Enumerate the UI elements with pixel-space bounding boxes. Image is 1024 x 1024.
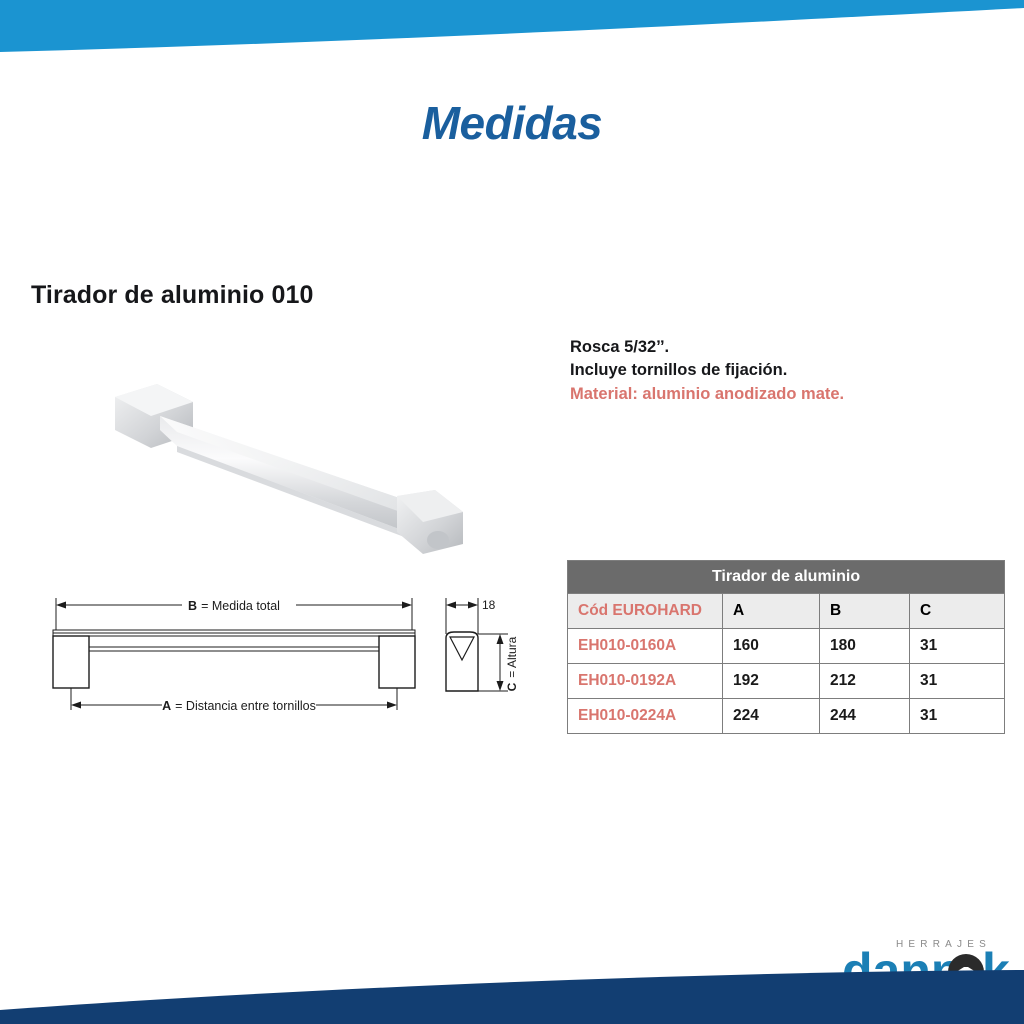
col-header-b-label: B bbox=[820, 602, 909, 620]
cell-c: 31 bbox=[910, 629, 1005, 664]
table-title-row: Tirador de aluminio bbox=[568, 561, 1005, 594]
table-header-row: Cód EUROHARD A B C bbox=[568, 594, 1005, 629]
col-header-a-label: A bbox=[723, 602, 819, 620]
brand-name-part2: k bbox=[982, 943, 1010, 996]
specification-text: Rosca 5/32ˮ. Incluye tornillos de fijaci… bbox=[570, 336, 844, 406]
dim-c-label-rest: = Altura bbox=[505, 636, 519, 677]
spec-thread-line: Rosca 5/32ˮ. bbox=[570, 336, 844, 359]
col-header-code-label: Cód EUROHARD bbox=[568, 602, 722, 620]
svg-text:A= Distancia entre tornillos: A= Distancia entre tornillos bbox=[162, 699, 316, 713]
col-header-b: B bbox=[820, 594, 910, 629]
dim-c-label-bold: C bbox=[505, 682, 519, 691]
table-row: EH010-0160A 160 180 31 bbox=[568, 629, 1005, 664]
top-swoosh-decoration bbox=[0, 0, 1024, 70]
dim-b-label-bold: B bbox=[188, 599, 197, 613]
col-header-code: Cód EUROHARD bbox=[568, 594, 723, 629]
product-photo bbox=[105, 372, 470, 557]
col-header-a: A bbox=[723, 594, 820, 629]
svg-text:C= Altura: C= Altura bbox=[505, 636, 519, 691]
cell-b: 180 bbox=[820, 629, 910, 664]
cell-a: 160 bbox=[723, 629, 820, 664]
brand-name-part1: dann bbox=[842, 943, 961, 996]
dim-width-label: 18 bbox=[482, 598, 496, 612]
product-title: Tirador de aluminio 010 bbox=[31, 281, 313, 310]
col-header-c: C bbox=[910, 594, 1005, 629]
spec-screws-line: Incluye tornillos de fijación. bbox=[570, 359, 844, 382]
table-row: EH010-0192A 192 212 31 bbox=[568, 664, 1005, 699]
measurements-table: Tirador de aluminio Cód EUROHARD A B C E… bbox=[567, 560, 1005, 734]
dim-a-label-bold: A bbox=[162, 699, 171, 713]
table-row: EH010-0224A 224 244 31 bbox=[568, 699, 1005, 734]
cell-b: 244 bbox=[820, 699, 910, 734]
col-header-c-label: C bbox=[910, 602, 1004, 620]
cell-c: 31 bbox=[910, 699, 1005, 734]
dim-a-label-rest: = Distancia entre tornillos bbox=[175, 699, 316, 713]
cell-b: 212 bbox=[820, 664, 910, 699]
cell-a: 192 bbox=[723, 664, 820, 699]
cell-a: 224 bbox=[723, 699, 820, 734]
spec-material-line: Material: aluminio anodizado mate. bbox=[570, 383, 844, 406]
table-title: Tirador de aluminio bbox=[568, 561, 1005, 594]
technical-drawing-side-view: 18 C= Altura bbox=[432, 592, 542, 717]
page-title: Medidas bbox=[0, 96, 1024, 150]
dim-b-label-rest: = Medida total bbox=[201, 599, 280, 613]
cell-code: EH010-0160A bbox=[568, 629, 723, 664]
cell-c: 31 bbox=[910, 664, 1005, 699]
brand-logo: HERRAJES dann k bbox=[838, 930, 1013, 996]
cell-code: EH010-0192A bbox=[568, 664, 723, 699]
document-page: Medidas Tirador de aluminio 010 Rosca 5/… bbox=[0, 0, 1024, 1024]
technical-drawing-front-view: B= Medida total A= Distancia entre torni… bbox=[34, 592, 434, 722]
cell-code: EH010-0224A bbox=[568, 699, 723, 734]
svg-text:B= Medida total: B= Medida total bbox=[188, 599, 280, 613]
